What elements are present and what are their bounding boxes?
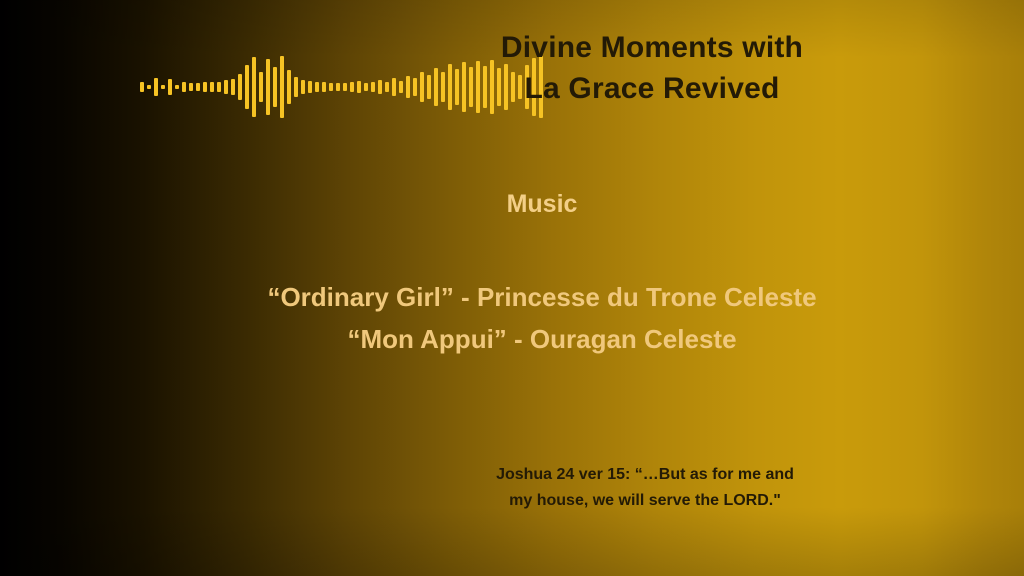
waveform-bar bbox=[161, 85, 165, 89]
waveform-bar bbox=[252, 57, 256, 117]
waveform-bar bbox=[203, 82, 207, 92]
waveform-bar bbox=[329, 83, 333, 91]
waveform-bar bbox=[287, 70, 291, 104]
waveform-bar bbox=[392, 78, 396, 96]
audio-waveform-icon bbox=[140, 52, 440, 122]
waveform-bar bbox=[301, 80, 305, 94]
scripture-quote: Joshua 24 ver 15: “…But as for me and my… bbox=[380, 462, 910, 513]
waveform-bar bbox=[280, 56, 284, 118]
waveform-bar bbox=[147, 85, 151, 89]
waveform-bar bbox=[189, 83, 193, 91]
music-section-label: Music bbox=[392, 190, 692, 219]
waveform-bar bbox=[294, 77, 298, 97]
waveform-bar bbox=[357, 81, 361, 93]
waveform-bar bbox=[217, 82, 221, 92]
waveform-bar bbox=[322, 82, 326, 92]
slide-title: Divine Moments with La Grace Revived bbox=[452, 28, 852, 109]
waveform-bar bbox=[364, 83, 368, 91]
waveform-bar bbox=[210, 82, 214, 92]
slide-title-line-1: Divine Moments with bbox=[452, 28, 852, 69]
waveform-bar bbox=[420, 72, 424, 102]
waveform-bar bbox=[427, 75, 431, 99]
waveform-bar bbox=[154, 78, 158, 96]
waveform-bar bbox=[140, 82, 144, 92]
scripture-quote-line-2: my house, we will serve the LORD." bbox=[380, 488, 910, 514]
waveform-bar bbox=[266, 59, 270, 115]
song-list-item-2: “Mon Appui” - Ouragan Celeste bbox=[112, 318, 972, 360]
scripture-quote-line-1: Joshua 24 ver 15: “…But as for me and bbox=[380, 462, 910, 488]
waveform-bar bbox=[378, 80, 382, 94]
waveform-bar bbox=[224, 80, 228, 94]
waveform-bar bbox=[371, 82, 375, 92]
waveform-bar bbox=[343, 83, 347, 91]
waveform-bar bbox=[168, 79, 172, 95]
waveform-bar bbox=[175, 85, 179, 89]
waveform-bar bbox=[231, 79, 235, 95]
presentation-slide: Divine Moments with La Grace Revived Mus… bbox=[0, 0, 1024, 576]
waveform-bar bbox=[441, 72, 445, 102]
waveform-bar bbox=[259, 72, 263, 102]
waveform-bar bbox=[413, 78, 417, 96]
waveform-bar bbox=[434, 68, 438, 106]
song-list: “Ordinary Girl” - Princesse du Trone Cel… bbox=[112, 276, 972, 360]
song-list-item-1: “Ordinary Girl” - Princesse du Trone Cel… bbox=[112, 276, 972, 318]
waveform-bar bbox=[406, 76, 410, 98]
waveform-bar bbox=[385, 82, 389, 92]
waveform-bar bbox=[315, 82, 319, 92]
waveform-bar bbox=[399, 81, 403, 93]
slide-title-line-2: La Grace Revived bbox=[452, 69, 852, 110]
waveform-bar bbox=[196, 83, 200, 91]
waveform-bar bbox=[182, 82, 186, 92]
waveform-bar bbox=[308, 81, 312, 93]
waveform-bar bbox=[350, 82, 354, 92]
waveform-bar bbox=[336, 83, 340, 91]
waveform-bar bbox=[273, 67, 277, 107]
waveform-bar bbox=[238, 74, 242, 100]
waveform-bar bbox=[245, 65, 249, 109]
